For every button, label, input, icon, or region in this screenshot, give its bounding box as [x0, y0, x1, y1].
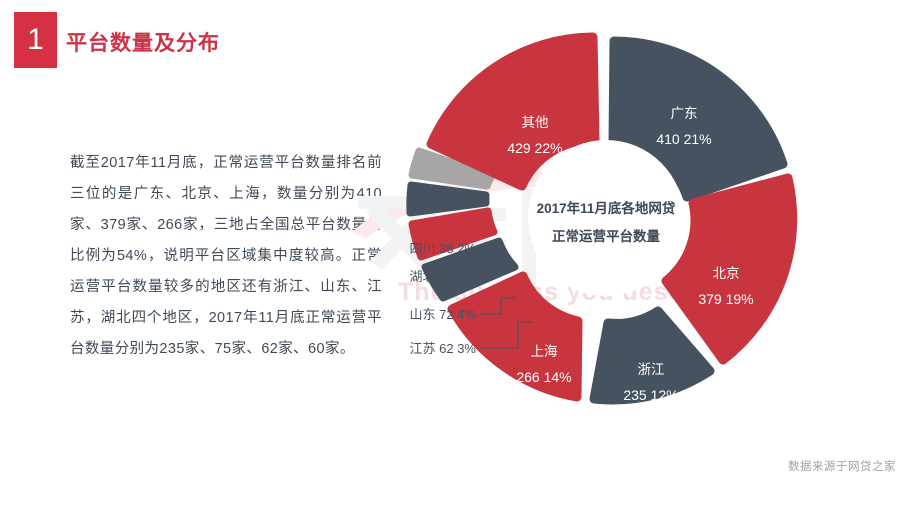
slice-guangdong-name: 广东	[671, 106, 698, 121]
slice-shanghai-name: 上海	[531, 344, 558, 359]
slice-sichuan-label: 四川 38 2%	[410, 241, 477, 256]
slice-beijing[interactable]: 北京 379 19%	[666, 178, 793, 360]
donut-chart: 广东 410 21% 北京 379 19% 浙江 235 12% 上海 266 …	[396, 26, 916, 446]
donut-center-hole	[528, 140, 684, 296]
summary-paragraph: 截至2017年11月底，正常运营平台数量排名前三位的是广东、北京、上海，数量分别…	[70, 148, 382, 365]
chart-center-title-line1: 2017年11月底各地网贷	[537, 200, 676, 216]
slice-zhejiang-value: 235 12%	[623, 387, 678, 403]
slice-other-name: 其他	[522, 115, 549, 130]
slice-hubei[interactable]	[410, 185, 486, 213]
slice-beijing-value: 379 19%	[698, 291, 753, 307]
slice-shanghai[interactable]: 上海 266 14%	[452, 276, 578, 397]
source-note: 数据来源于网贷之家	[788, 458, 896, 474]
slice-guangdong-value: 410 21%	[656, 131, 711, 147]
slice-hubei-label: 湖北 60 3%	[410, 269, 477, 284]
slice-beijing-name: 北京	[713, 266, 740, 281]
chart-center-title-line2: 正常运营平台数量	[552, 228, 660, 244]
slice-hubei-wedge[interactable]	[410, 185, 486, 213]
slice-jiangsu-label: 江苏 62 3%	[410, 341, 477, 356]
slice-other-value: 429 22%	[507, 140, 562, 156]
page-title: 平台数量及分布	[66, 27, 220, 57]
slice-shanghai-value: 266 14%	[516, 369, 571, 385]
slice-shandong-label: 山东 72 4%	[410, 307, 477, 322]
slice-zhejiang-name: 浙江	[638, 362, 665, 377]
section-number-badge: 1	[14, 12, 57, 68]
